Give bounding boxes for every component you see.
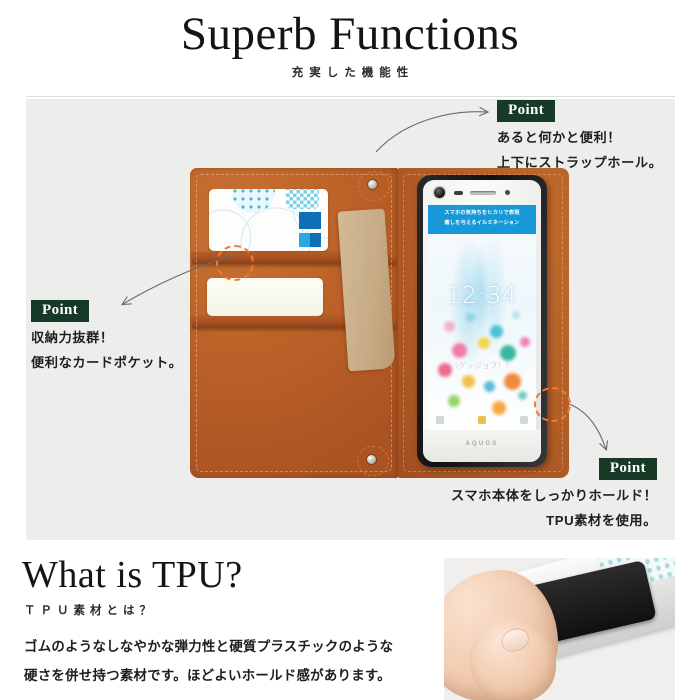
tpu-body-line-2: 硬さを併せ持つ素材です。ほどよいホールド感があります。 — [24, 661, 436, 690]
callout-strap: Point あると何かと便利！ 上下にストラップホール。 — [497, 100, 662, 175]
callout-strap-line-2: 上下にストラップホール。 — [497, 150, 662, 175]
tpu-section-subtitle: ＴＰＵ素材とは？ — [24, 602, 156, 618]
tpu-demo-photo — [444, 558, 675, 700]
callout-tpu-hold: Point スマホ本体をしっかりホールド！ TPU素材を使用。 — [451, 458, 657, 533]
callout-strap-line-1: あると何かと便利！ — [497, 125, 662, 150]
tpu-section-title: What is TPU? — [22, 556, 243, 596]
callout-pocket-line-2: 便利なカードポケット。 — [31, 350, 182, 375]
arrow-to-pocket-callout — [123, 256, 232, 304]
infographic-page: Superb Functions 充実した機能性 — [0, 0, 700, 700]
callout-tpu-line-1: スマホ本体をしっかりホールド！ — [451, 483, 657, 508]
point-badge: Point — [497, 100, 555, 122]
callout-card-pocket: Point 収納力抜群！ 便利なカードポケット。 — [31, 300, 182, 375]
point-badge: Point — [599, 458, 657, 480]
arrow-to-strap-callout — [376, 112, 487, 152]
tpu-section-body: ゴムのようなしなやかな弾力性と硬質プラスチックのような 硬さを併せ持つ素材です。… — [24, 632, 436, 690]
callout-pocket-line-1: 収納力抜群！ — [31, 325, 182, 350]
point-badge: Point — [31, 300, 89, 322]
tpu-body-line-1: ゴムのようなしなやかな弾力性と硬質プラスチックのような — [24, 632, 436, 661]
arrow-to-tpu-callout — [569, 404, 606, 449]
callout-tpu-line-2: TPU素材を使用。 — [451, 508, 657, 533]
